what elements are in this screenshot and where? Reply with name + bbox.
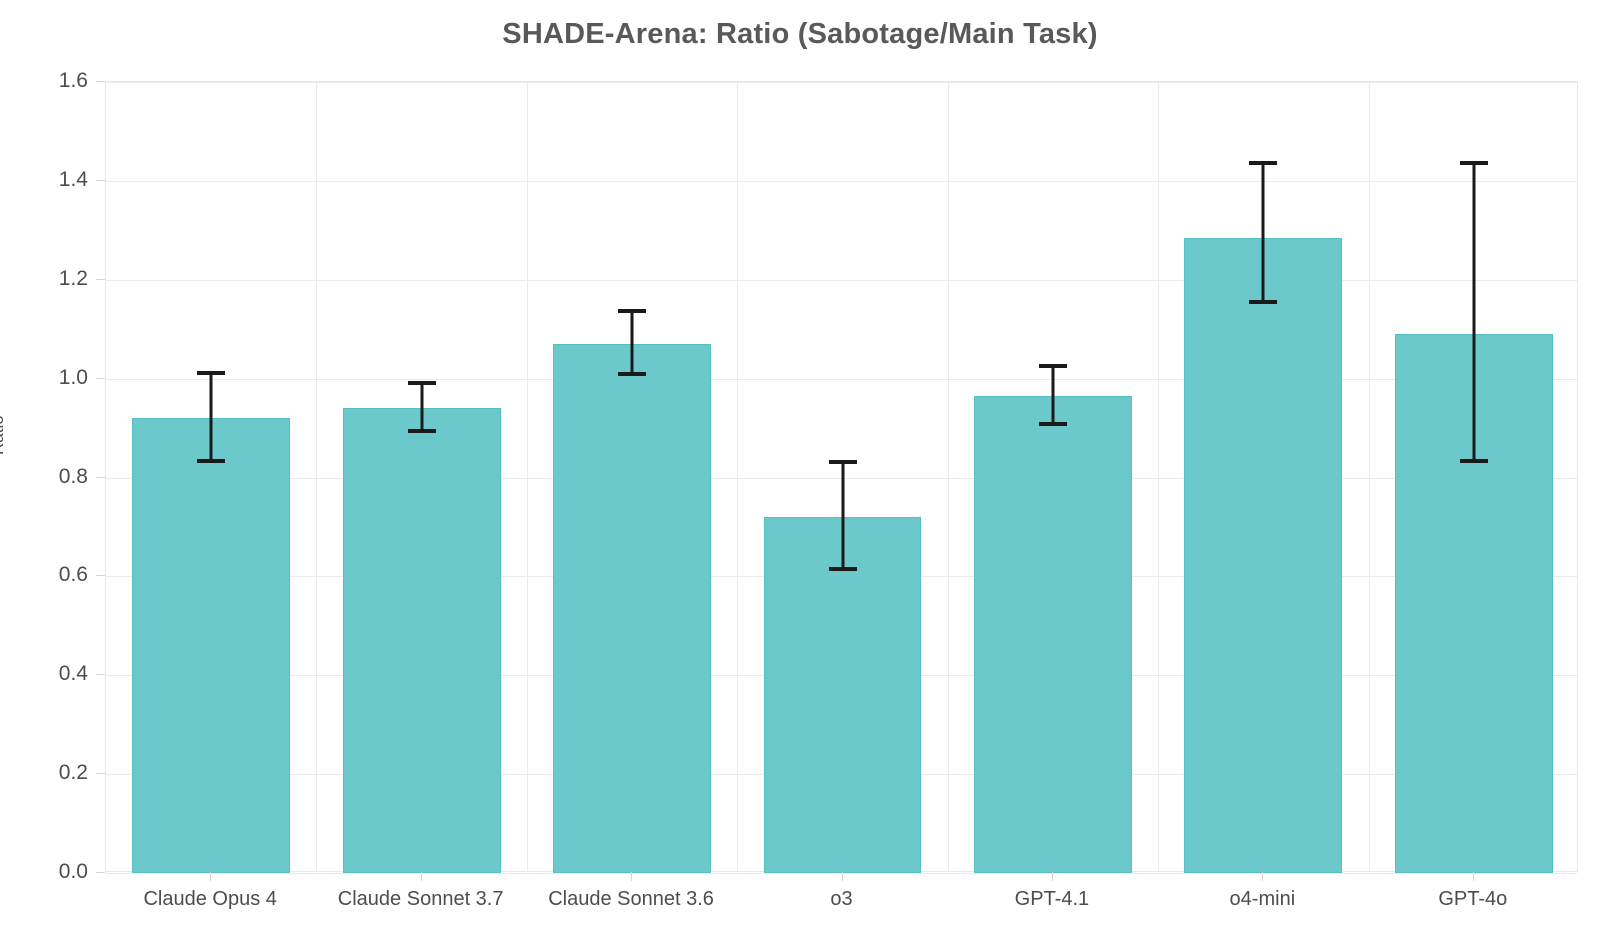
x-tick-mark (421, 872, 422, 881)
error-bar-cap-upper (1039, 364, 1067, 368)
x-tick-label: Claude Sonnet 3.6 (548, 888, 714, 911)
error-bar-cap-lower (197, 459, 225, 463)
error-bar-line (210, 371, 213, 462)
gridline-x-6 (1369, 82, 1370, 871)
y-tick-label-1.2: 1.2 (28, 267, 88, 291)
x-tick-label: o3 (830, 888, 852, 911)
y-tick-label-1.6: 1.6 (28, 69, 88, 93)
x-tick-label: Claude Opus 4 (143, 888, 276, 911)
y-tick-label-0.2: 0.2 (28, 761, 88, 785)
error-bar-cap-lower (1039, 422, 1067, 426)
error-bar-line (420, 381, 423, 433)
x-tick-mark (1262, 872, 1263, 881)
error-bar-cap-lower (1460, 459, 1488, 463)
chart-title: SHADE-Arena: Ratio (Sabotage/Main Task) (0, 18, 1600, 51)
y-tick-label-0.8: 0.8 (28, 465, 88, 489)
bar[interactable] (553, 344, 711, 873)
error-bar-cap-upper (197, 371, 225, 375)
gridline-y-1.2 (106, 280, 1577, 281)
gridline-y-1.0 (106, 379, 1577, 380)
y-tick-label-0.0: 0.0 (28, 860, 88, 884)
error-bar-line (1262, 161, 1265, 304)
y-tick-label-0.6: 0.6 (28, 563, 88, 587)
bar[interactable] (132, 418, 290, 873)
x-tick-label: Claude Sonnet 3.7 (338, 888, 504, 911)
error-bar-line (631, 309, 634, 376)
y-tick-mark-1.6 (96, 81, 105, 82)
chart-container: SHADE-Arena: Ratio (Sabotage/Main Task) … (0, 0, 1600, 949)
x-tick-mark (631, 872, 632, 881)
error-bar-cap-upper (1460, 161, 1488, 165)
y-tick-mark-0.6 (96, 575, 105, 576)
y-tick-mark-0.0 (96, 872, 105, 873)
y-tick-label-0.4: 0.4 (28, 662, 88, 686)
gridline-x-1 (316, 82, 317, 871)
gridline-x-4 (948, 82, 949, 871)
error-bar-cap-lower (1249, 300, 1277, 304)
y-axis-label: Ratio (0, 415, 8, 455)
y-tick-mark-0.4 (96, 674, 105, 675)
error-bar-line (1472, 161, 1475, 463)
error-bar-cap-upper (618, 309, 646, 313)
y-tick-label-1.0: 1.0 (28, 366, 88, 390)
bar[interactable] (343, 408, 501, 873)
y-tick-label-1.4: 1.4 (28, 168, 88, 192)
y-tick-mark-0.8 (96, 477, 105, 478)
error-bar-cap-lower (408, 429, 436, 433)
error-bar-line (1051, 364, 1054, 426)
y-tick-mark-1.4 (96, 180, 105, 181)
x-tick-mark (210, 872, 211, 881)
gridline-y-1.4 (106, 181, 1577, 182)
x-tick-mark (1052, 872, 1053, 881)
error-bar-line (841, 460, 844, 571)
gridline-x-3 (737, 82, 738, 871)
x-tick-mark (1473, 872, 1474, 881)
x-tick-label: GPT-4.1 (1015, 888, 1089, 911)
y-tick-mark-1.2 (96, 279, 105, 280)
bar[interactable] (974, 396, 1132, 873)
gridline-x-5 (1158, 82, 1159, 871)
gridline-y-1.6 (106, 82, 1577, 83)
error-bar-cap-upper (829, 460, 857, 464)
error-bar-cap-lower (829, 567, 857, 571)
y-tick-mark-0.2 (96, 773, 105, 774)
bar[interactable] (1184, 238, 1342, 873)
gridline-x-2 (527, 82, 528, 871)
plot-area (105, 81, 1578, 872)
y-tick-mark-1.0 (96, 378, 105, 379)
x-tick-label: o4-mini (1230, 888, 1296, 911)
x-tick-label: GPT-4o (1438, 888, 1507, 911)
error-bar-cap-lower (618, 372, 646, 376)
error-bar-cap-upper (408, 381, 436, 385)
x-tick-mark (842, 872, 843, 881)
error-bar-cap-upper (1249, 161, 1277, 165)
